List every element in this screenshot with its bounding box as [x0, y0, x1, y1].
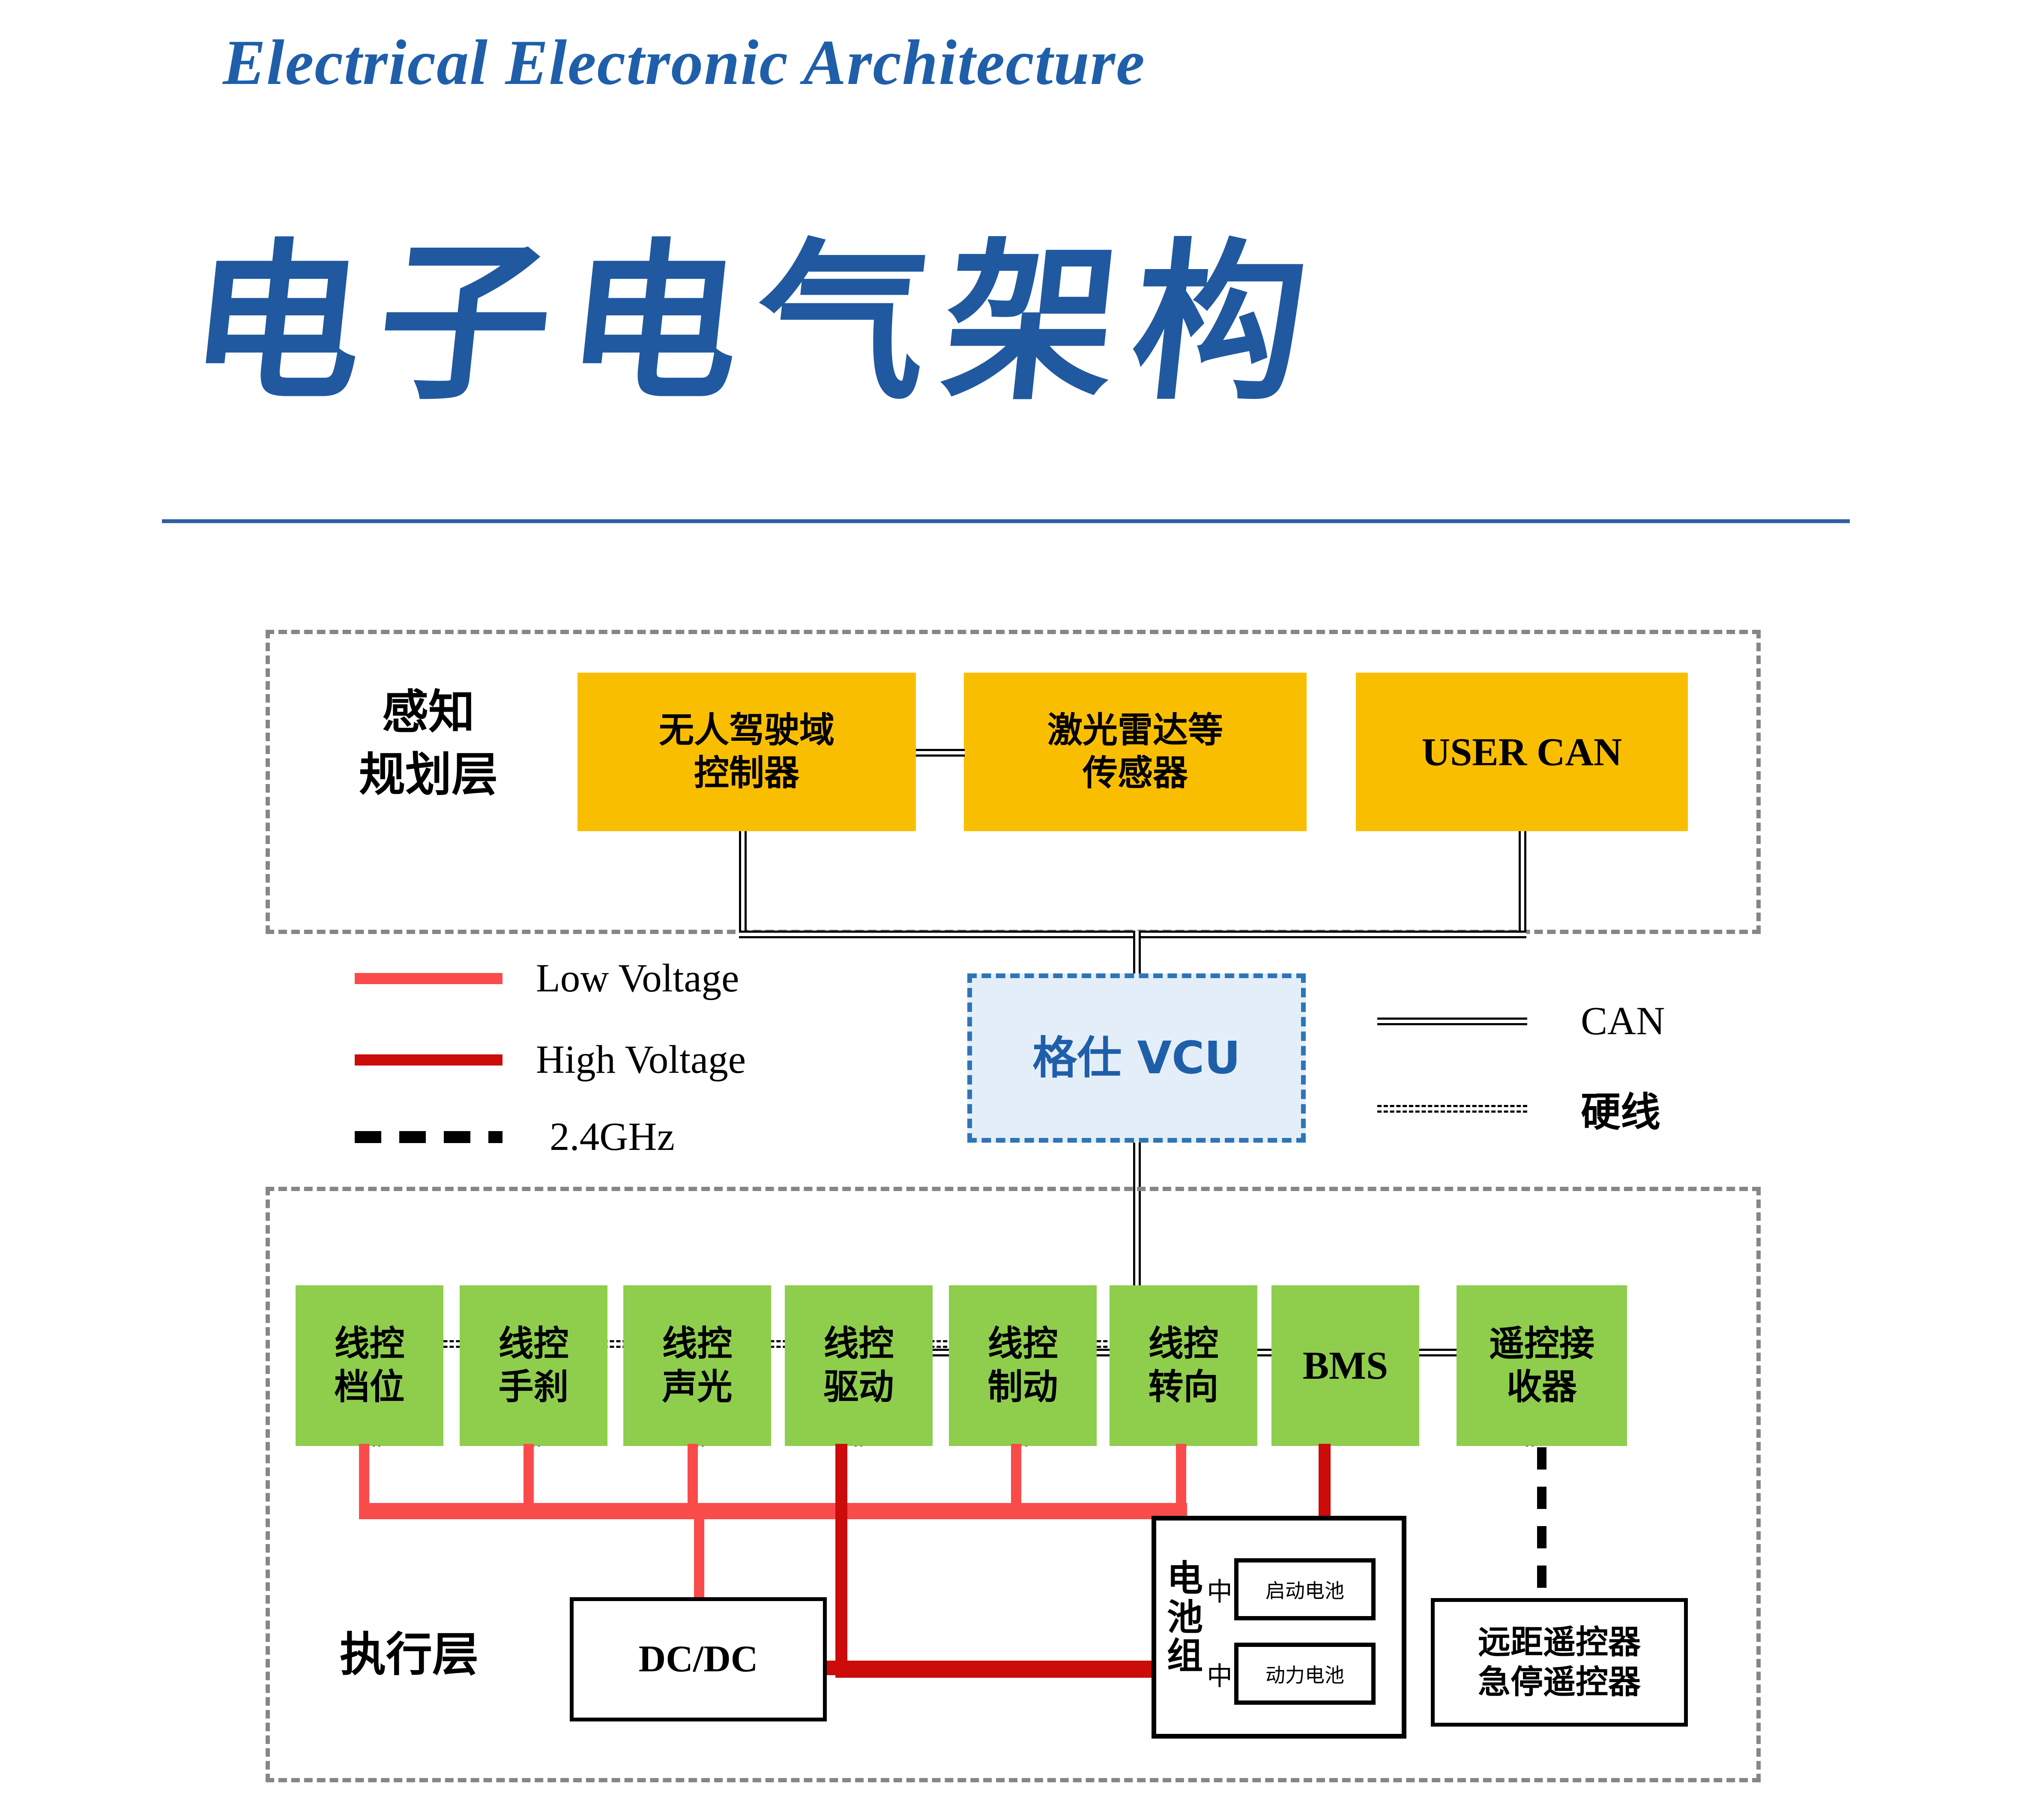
rf-link-remote: [1537, 1447, 1546, 1597]
can-bus-perception: [739, 931, 1526, 938]
chinese-title: 电子电气架构: [179, 184, 1337, 432]
node-lidar-sensors[interactable]: 激光雷达等 传感器: [964, 673, 1307, 831]
execution-layer-label: 执行层: [317, 1624, 501, 1686]
node-xbw-light-horn[interactable]: 线控 声光: [623, 1285, 771, 1446]
lv-drop-xbw-gear: [359, 1444, 369, 1512]
node-remote-receiver[interactable]: 遥控接 收器: [1457, 1285, 1627, 1446]
node-xbw-brake[interactable]: 线控 制动: [949, 1285, 1097, 1446]
legend-swatch-can: [1377, 1018, 1527, 1025]
node-xbw-steering[interactable]: 线控 转向: [1110, 1285, 1257, 1446]
lv-feed-to-dcdc: [694, 1503, 704, 1598]
can-drop-user-can: [1519, 831, 1526, 934]
lv-drop-xbw-light-horn: [688, 1444, 698, 1512]
legend-rf-24ghz: 2.4GHz: [355, 1114, 675, 1160]
legend-label-high-voltage: High Voltage: [536, 1037, 746, 1083]
legend-label-hardwire: 硬线: [1581, 1080, 1660, 1137]
node-xbw-handbrake[interactable]: 线控 手刹: [460, 1285, 607, 1446]
english-title: Electrical Electronic Architecture: [223, 26, 1146, 99]
node-user-can[interactable]: USER CAN: [1356, 673, 1688, 831]
can-link-adas-to-lidar: [916, 749, 965, 757]
node-vcu[interactable]: 格仕 VCU: [967, 973, 1306, 1143]
battery-cell-start: 启动电池: [1234, 1558, 1376, 1620]
legend-low-voltage: Low Voltage: [355, 955, 739, 1001]
node-xbw-drive[interactable]: 线控 驱动: [785, 1285, 933, 1446]
lv-drop-xbw-handbrake: [523, 1444, 534, 1512]
node-xbw-gear[interactable]: 线控 档位: [296, 1285, 443, 1446]
node-dcdc[interactable]: DC/DC: [570, 1597, 827, 1721]
battery-cell-tick-power: 中: [1207, 1655, 1232, 1693]
battery-pack-label: 电池组: [1166, 1559, 1204, 1676]
node-remote-controllers[interactable]: 远距遥控器 急停遥控器: [1431, 1598, 1688, 1727]
legend-high-voltage: High Voltage: [355, 1037, 746, 1083]
legend-hardwire: 硬线: [1377, 1080, 1660, 1137]
legend-label-can: CAN: [1581, 998, 1665, 1044]
lv-drop-xbw-brake: [1011, 1444, 1021, 1512]
can-drop-adas: [739, 831, 747, 934]
title-divider: [162, 519, 1850, 523]
perception-layer-label: 感知 规划层: [338, 681, 518, 806]
node-battery-pack[interactable]: 电池组 中 启动电池 中 动力电池: [1152, 1516, 1406, 1739]
legend-label-rf-24ghz: 2.4GHz: [550, 1114, 675, 1160]
legend-can: CAN: [1377, 998, 1665, 1044]
hv-drop-bms: [1319, 1444, 1331, 1517]
node-bms[interactable]: BMS: [1271, 1285, 1419, 1446]
battery-cell-tick-start: 中: [1207, 1571, 1232, 1608]
hv-drop-xbw-drive: [835, 1444, 847, 1675]
page-header: Electrical Electronic Architecture 电子电气架…: [0, 0, 2040, 553]
legend-swatch-hardwire: [1377, 1105, 1527, 1113]
battery-cell-power: 动力电池: [1234, 1643, 1376, 1705]
legend-swatch-high-voltage: [355, 1054, 503, 1066]
legend-label-low-voltage: Low Voltage: [536, 955, 739, 1001]
hv-run-dcdc-to-battery: [814, 1661, 1187, 1675]
lv-drop-xbw-steering: [1176, 1444, 1186, 1512]
legend-swatch-low-voltage: [355, 973, 503, 984]
legend-swatch-rf-24ghz: [355, 1131, 503, 1143]
lv-bus: [359, 1503, 1187, 1519]
node-adas-domain-controller[interactable]: 无人驾驶域 控制器: [577, 673, 916, 831]
